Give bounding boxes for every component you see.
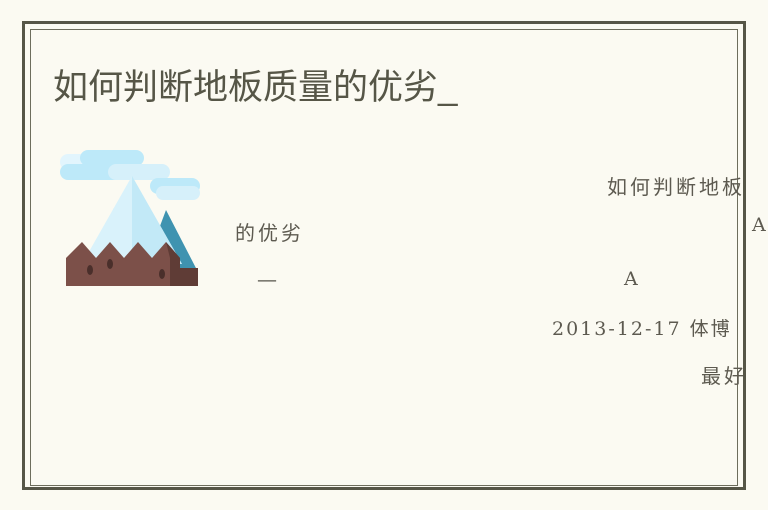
text-fragment-left-1: 的优劣 xyxy=(235,222,304,244)
text-fragment-right-title: 如何判断地板 xyxy=(607,176,745,198)
text-fragment-right-letter-a-mid: A xyxy=(624,268,639,290)
mountain-landscape-placeholder-icon xyxy=(52,146,212,298)
text-fragment-right-bottom: 最好 xyxy=(701,365,747,387)
page-root: 如何判断地板质量的优劣_ 的优劣 xyxy=(0,0,768,510)
text-fragment-right-letter-a-top: A xyxy=(752,214,767,236)
text-fragment-right-date: 2013-12-17 体博 xyxy=(552,318,732,340)
page-title: 如何判断地板质量的优劣_ xyxy=(53,66,457,110)
text-fragment-left-2: — xyxy=(257,268,277,290)
